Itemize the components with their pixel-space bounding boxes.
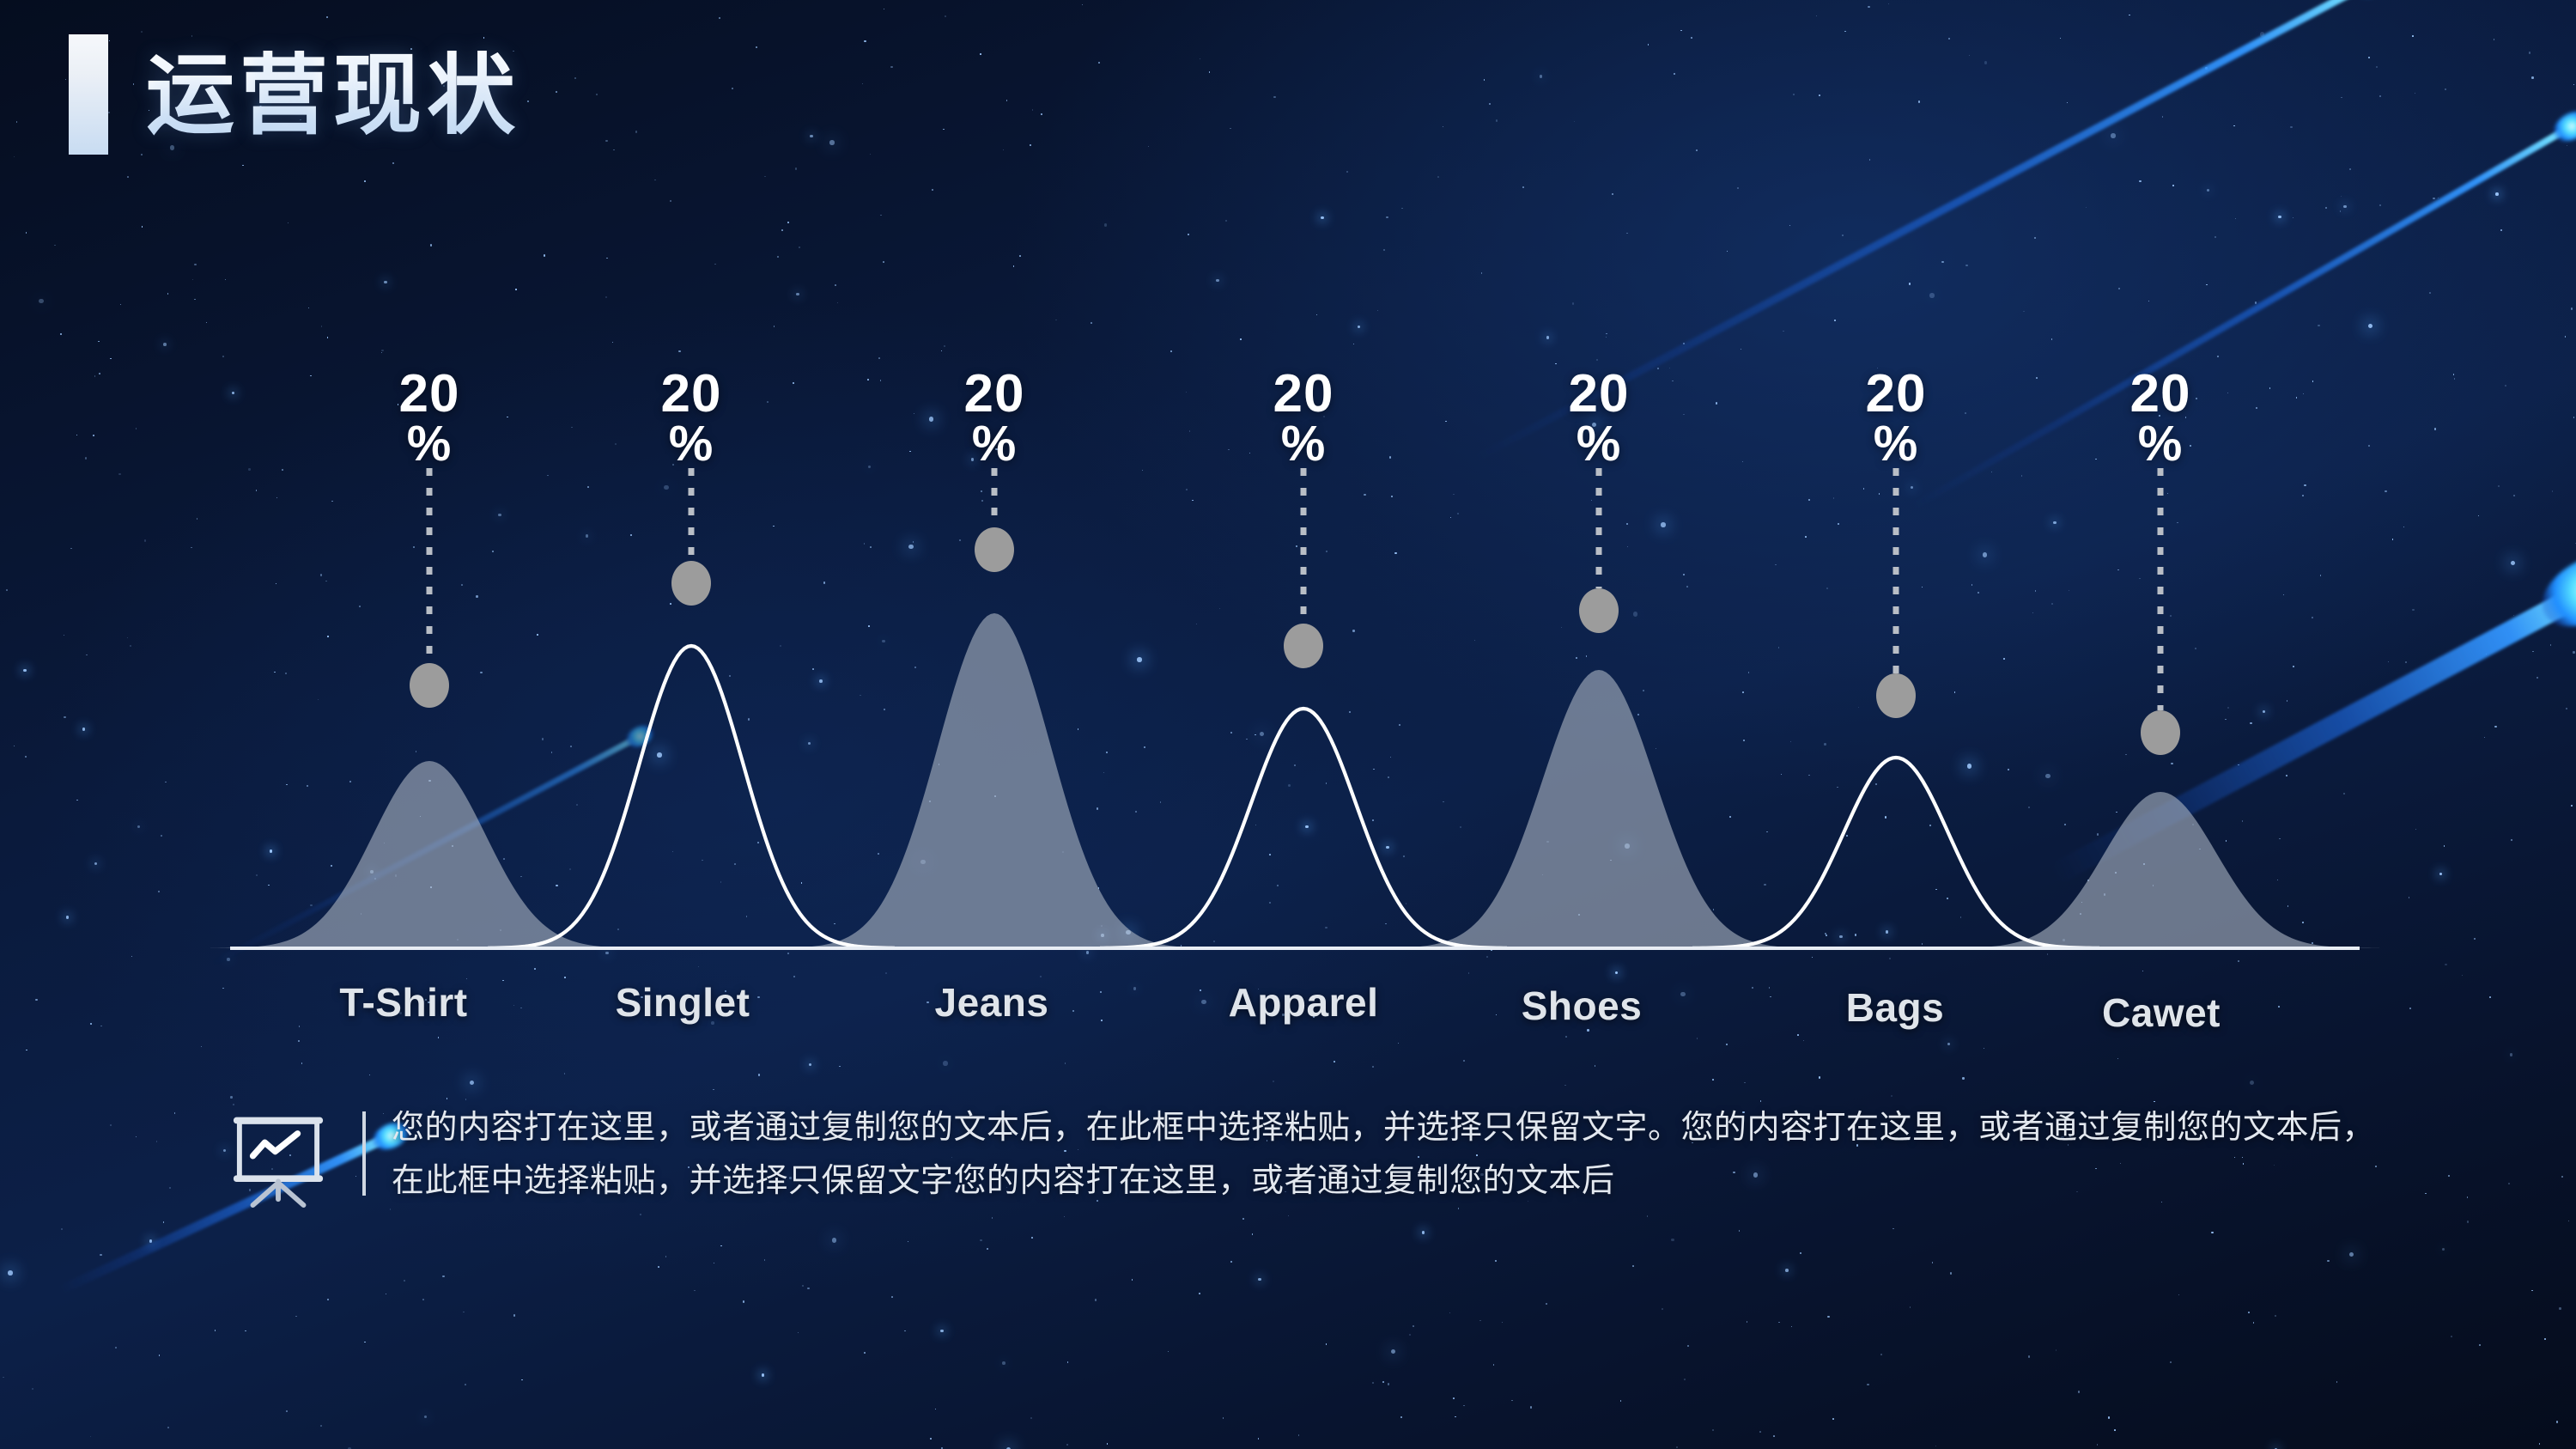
category-label: Shoes [1522, 983, 1643, 1029]
value-number: 20 [2130, 364, 2191, 423]
value-number: 20 [1273, 364, 1334, 423]
percent-sign: % [964, 420, 1025, 467]
category-label: Cawet [2102, 989, 2221, 1036]
bell-curve-filled [775, 613, 1213, 948]
marker-dot[interactable] [1876, 673, 1916, 718]
marker-dot[interactable] [1284, 624, 1323, 668]
marker-dot[interactable] [975, 527, 1014, 572]
percent-sign: % [1866, 420, 1927, 467]
bell-curve-filled [1941, 792, 2379, 948]
marker-dot[interactable] [410, 663, 449, 708]
category-label: Apparel [1229, 979, 1379, 1026]
value-label: 20% [1273, 369, 1334, 467]
percent-sign: % [2130, 420, 2191, 467]
bell-curve-outline [488, 646, 895, 948]
percent-sign: % [661, 420, 722, 467]
value-label: 20% [1569, 369, 1630, 467]
percent-sign: % [399, 420, 460, 467]
marker-dot-group [410, 527, 2180, 755]
bell-curve-outline [1692, 758, 2099, 948]
presentation-chart-icon [230, 1110, 326, 1211]
bell-curve-filled [1380, 670, 1818, 948]
category-label: Jeans [935, 979, 1049, 1026]
footer-divider [362, 1111, 366, 1196]
value-label: 20% [1866, 369, 1927, 467]
category-label: T-Shirt [339, 979, 467, 1026]
footer-note: 您的内容打在这里，或者通过复制您的文本后，在此框中选择粘贴，并选择只保留文字。您… [230, 1101, 2403, 1211]
value-number: 20 [1866, 364, 1927, 423]
value-number: 20 [399, 364, 460, 423]
value-number: 20 [964, 364, 1025, 423]
bell-curve-chart: 20%20%20%20%20%20%20% T-ShirtSingletJean… [0, 0, 2576, 1449]
category-label: Bags [1846, 984, 1944, 1031]
marker-dot[interactable] [671, 561, 711, 606]
percent-sign: % [1273, 420, 1334, 467]
value-label: 20% [2130, 369, 2191, 467]
value-label: 20% [661, 369, 722, 467]
chart-svg [0, 0, 2576, 1449]
outline-curve-group [488, 646, 2099, 948]
category-label: Singlet [616, 979, 750, 1026]
marker-dot[interactable] [2141, 710, 2180, 755]
value-label: 20% [399, 369, 460, 467]
value-number: 20 [661, 364, 722, 423]
marker-dot[interactable] [1579, 588, 1619, 633]
value-label: 20% [964, 369, 1025, 467]
percent-sign: % [1569, 420, 1630, 467]
slide-canvas: 运营现状 20%20%20%20%20%20%20% T-ShirtSingle… [0, 0, 2576, 1449]
footer-body-text: 您的内容打在这里，或者通过复制您的文本后，在此框中选择粘贴，并选择只保留文字。您… [392, 1101, 2403, 1207]
bell-curve-filled [210, 761, 648, 948]
bell-curve-outline [1100, 709, 1507, 948]
value-number: 20 [1569, 364, 1630, 423]
